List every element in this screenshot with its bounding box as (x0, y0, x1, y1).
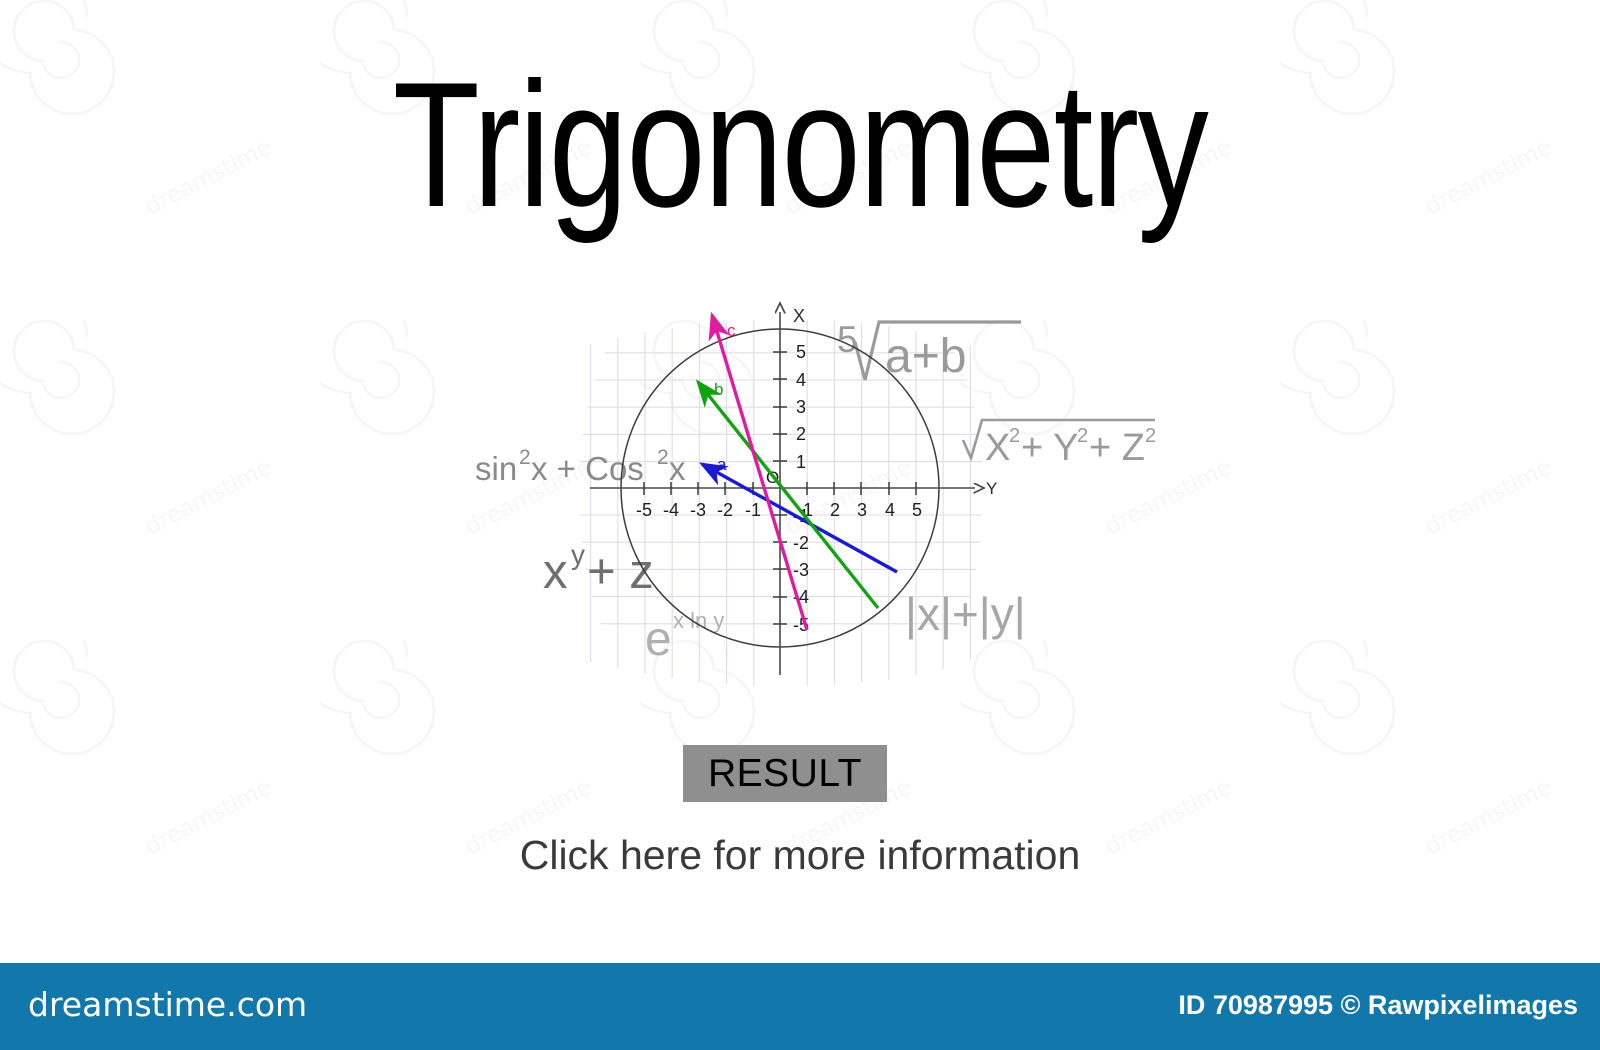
svg-text:-3: -3 (793, 560, 809, 580)
dreamstime-logo[interactable]: dreamstime.com (28, 985, 307, 1024)
svg-text:-2: -2 (717, 500, 733, 520)
formula-pythagorean-identity: sin 2 x + Cos 2 x (475, 446, 686, 487)
result-button[interactable]: RESULT (683, 745, 887, 802)
trigonometry-diagram: sin 2 x + Cos 2 x x y + z e x ln y (455, 290, 1165, 700)
svg-text:X: X (985, 427, 1010, 469)
vector-c-label: c (727, 321, 736, 340)
svg-text:2: 2 (830, 500, 840, 520)
x-axis-name-label: X (793, 306, 805, 326)
svg-text:x: x (543, 545, 568, 599)
svg-text:4: 4 (796, 370, 806, 390)
svg-text:4: 4 (885, 500, 895, 520)
svg-text:2: 2 (1077, 425, 1088, 447)
svg-text:-2: -2 (793, 533, 809, 553)
svg-text:5: 5 (837, 319, 858, 360)
formula-power-sum: x y + z (543, 539, 654, 599)
svg-text:x + Cos: x + Cos (531, 450, 644, 487)
svg-text:-5: -5 (636, 500, 652, 520)
formula-annotations: sin 2 x + Cos 2 x x y + z e x ln y (475, 319, 1156, 666)
vector-b-label: b (714, 380, 723, 399)
svg-text:2: 2 (796, 424, 806, 444)
svg-text:2: 2 (519, 446, 531, 469)
svg-text:|x|+|y|: |x|+|y| (905, 588, 1026, 640)
svg-text:1: 1 (796, 452, 806, 472)
svg-text:3: 3 (857, 500, 867, 520)
svg-text:+ Z: + Z (1089, 427, 1145, 469)
formula-euclidean-norm: X 2 + Y 2 + Z 2 (963, 420, 1156, 469)
svg-text:a+b: a+b (885, 330, 966, 383)
svg-text:y: y (571, 539, 585, 570)
y-axis-name-label: Y (986, 479, 997, 498)
svg-text:5: 5 (912, 500, 922, 520)
formula-fifth-root: 5 a+b (837, 319, 1021, 383)
footer-bar: dreamstime.com ID 70987995 © Rawpixelima… (0, 963, 1600, 1050)
more-info-link[interactable]: Click here for more information (0, 832, 1600, 879)
svg-text:-4: -4 (663, 500, 679, 520)
svg-text:+ Y: + Y (1021, 427, 1078, 469)
x-axis-tick-labels: -5 -4 -3 -2 -1 1 2 3 4 5 (636, 500, 922, 520)
svg-text:2: 2 (1009, 425, 1020, 447)
image-credit: ID 70987995 © Rawpixelimages (1178, 990, 1578, 1021)
svg-text:-3: -3 (690, 500, 706, 520)
formula-exp-log: e x ln y (645, 608, 724, 666)
svg-text:2: 2 (1145, 425, 1156, 447)
svg-text:2: 2 (657, 446, 669, 469)
svg-text:-1: -1 (745, 500, 761, 520)
svg-text:3: 3 (796, 397, 806, 417)
poster-canvas: dreamstime Trigonometry (0, 0, 1600, 1050)
svg-text:e: e (645, 613, 672, 666)
vector-a-label: a (717, 455, 727, 474)
svg-text:x: x (669, 450, 686, 487)
page-title: Trigonometry (160, 52, 1440, 239)
formula-manhattan-norm: |x|+|y| (905, 588, 1026, 640)
svg-text:sin: sin (475, 450, 517, 487)
svg-text:5: 5 (796, 342, 806, 362)
svg-text:+ z: + z (587, 545, 654, 599)
